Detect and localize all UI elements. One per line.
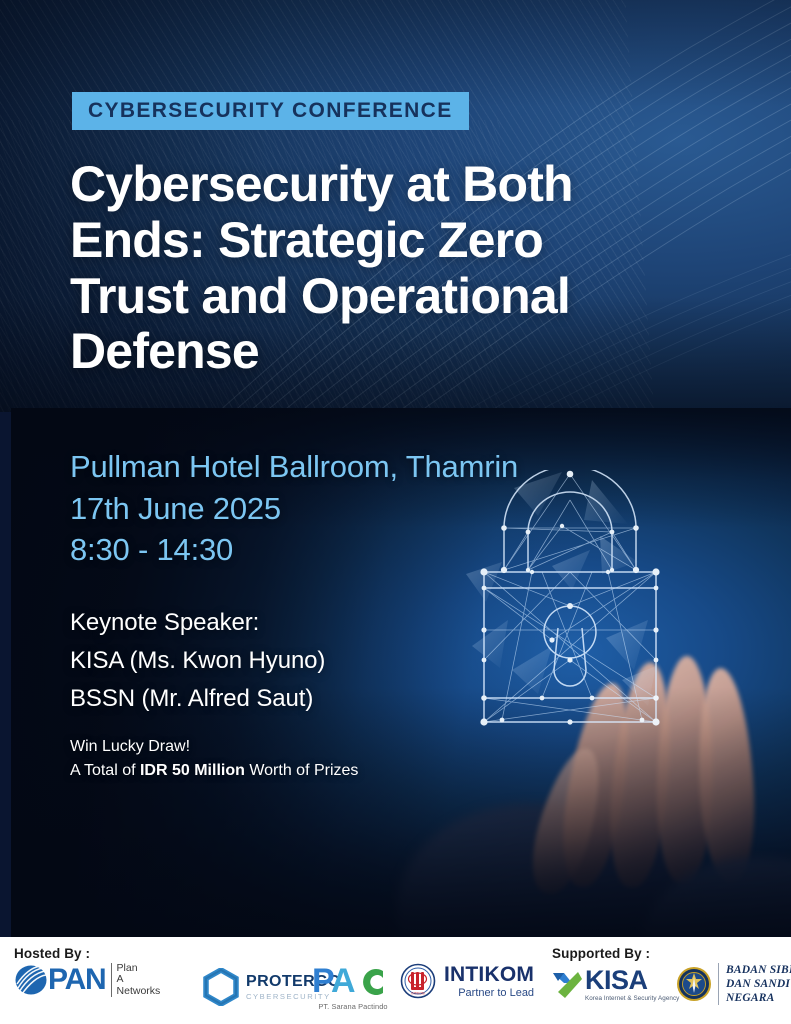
svg-text:INTIKOM: INTIKOM: [411, 992, 425, 996]
venue-location: Pullman Hotel Ballroom, Thamrin: [70, 446, 518, 488]
event-date: 17th June 2025: [70, 488, 518, 530]
title-line: Cybersecurity at Both: [70, 157, 750, 213]
lucky-draw-detail: A Total of IDR 50 Million Worth of Prize…: [70, 759, 358, 783]
pan-tagline-line: Networks: [117, 986, 161, 997]
pan-tagline: Plan A Networks: [111, 963, 161, 997]
logo-pac: P A PT. Sarana Pactindo: [313, 962, 393, 1011]
pan-wordmark: PAN: [48, 965, 106, 995]
keynote-heading: Keynote Speaker:: [70, 604, 325, 642]
svg-text:A: A: [331, 962, 356, 1000]
pan-tagline-line: A: [117, 974, 161, 985]
kisa-k-mark-icon: [551, 970, 583, 1000]
event-details: Pullman Hotel Ballroom, Thamrin 17th Jun…: [70, 446, 518, 571]
pan-globe-icon: [14, 964, 48, 996]
keynote-speakers: Keynote Speaker: KISA (Ms. Kwon Hyuno) B…: [70, 604, 325, 718]
logo-pan: PAN Plan A Networks: [14, 963, 160, 997]
supported-by-label: Supported By :: [552, 946, 650, 961]
logo-intikom: INTIKOM INTIKOM Partner to Lead: [400, 963, 534, 999]
kisa-tagline: Korea Internet & Security Agency: [585, 996, 679, 1002]
bssn-wordmark: BADAN SIBER DAN SANDI NEGARA: [718, 963, 791, 1005]
logo-kisa: KISA Korea Internet & Security Agency: [551, 967, 679, 1002]
event-time: 8:30 - 14:30: [70, 529, 518, 571]
lucky-draw-suffix: Worth of Prizes: [245, 762, 359, 779]
lucky-draw-headline: Win Lucky Draw!: [70, 735, 358, 759]
pac-wordmark-icon: P A: [313, 962, 393, 1000]
lucky-draw-note: Win Lucky Draw! A Total of IDR 50 Millio…: [70, 735, 358, 784]
kisa-wordmark: KISA: [585, 967, 679, 994]
title-line: Ends: Strategic Zero: [70, 213, 750, 269]
bssn-wordmark-line: NEGARA: [726, 991, 791, 1005]
title-line: Trust and Operational: [70, 269, 750, 325]
lucky-draw-prefix: A Total of: [70, 762, 140, 779]
logo-bssn: BADAN SIBER DAN SANDI NEGARA: [676, 963, 791, 1005]
bssn-emblem-icon: [676, 966, 712, 1002]
bssn-wordmark-line: DAN SANDI: [726, 977, 791, 991]
intikom-tagline: Partner to Lead: [444, 988, 534, 999]
conference-badge: CYBERSECURITY CONFERENCE: [72, 92, 469, 130]
speaker-item: KISA (Ms. Kwon Hyuno): [70, 642, 325, 680]
page-title: Cybersecurity at Both Ends: Strategic Ze…: [70, 157, 750, 380]
pac-tagline: PT. Sarana Pactindo: [318, 1002, 387, 1011]
title-line: Defense: [70, 324, 750, 380]
intikom-emblem-icon: INTIKOM: [400, 963, 436, 999]
protergo-hexagon-icon: [203, 968, 239, 1006]
intikom-wordmark: INTIKOM: [444, 964, 534, 985]
speaker-item: BSSN (Mr. Alfred Saut): [70, 680, 325, 718]
lucky-draw-amount: IDR 50 Million: [140, 762, 245, 779]
conference-poster: CYBERSECURITY CONFERENCE Cybersecurity a…: [0, 0, 791, 1024]
bssn-wordmark-line: BADAN SIBER: [726, 963, 791, 977]
hosted-by-label: Hosted By :: [14, 946, 90, 961]
